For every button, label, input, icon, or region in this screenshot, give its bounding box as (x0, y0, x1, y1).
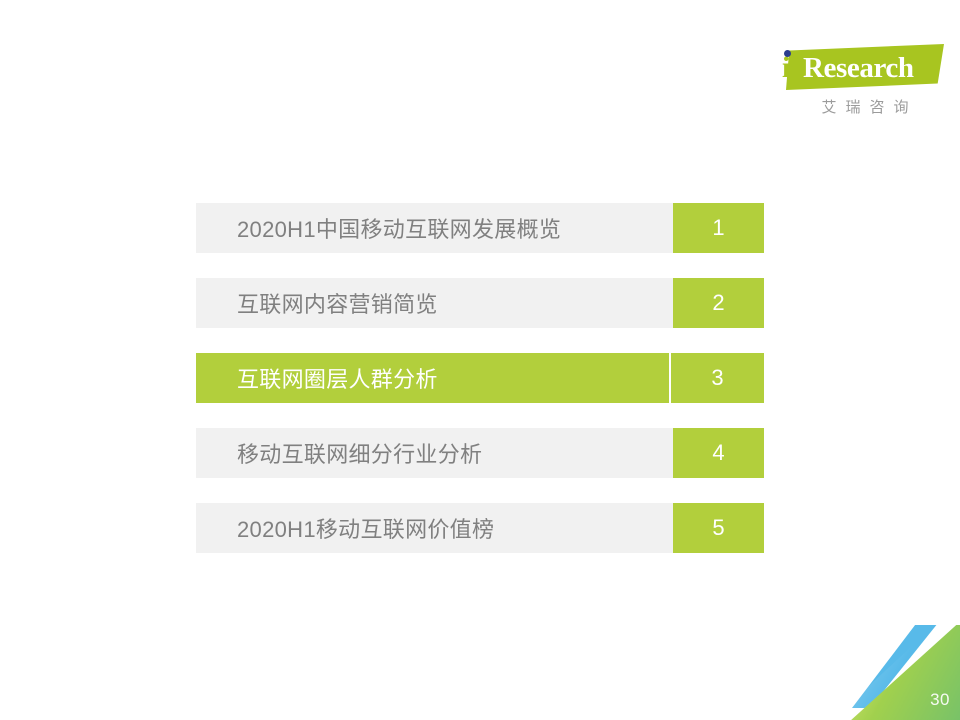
page-number: 30 (930, 690, 950, 710)
toc-item-label: 2020H1中国移动互联网发展概览 (196, 203, 673, 253)
toc-item-number: 2 (673, 278, 764, 328)
toc-item-label: 2020H1移动互联网价值榜 (196, 503, 673, 553)
toc-row-active[interactable]: 互联网圈层人群分析 3 (196, 353, 764, 403)
toc-item-number: 3 (669, 353, 764, 403)
toc-item-label: 互联网内容营销简览 (196, 278, 673, 328)
corner-highlight-overlay (850, 625, 940, 720)
toc-row[interactable]: 2020H1移动互联网价值榜 5 (196, 503, 764, 553)
table-of-contents: 2020H1中国移动互联网发展概览 1 互联网内容营销简览 2 互联网圈层人群分… (196, 203, 764, 553)
logo-dot-icon (784, 50, 791, 57)
toc-item-number: 4 (673, 428, 764, 478)
slide-canvas: i Research 艾瑞咨询 2020H1中国移动互联网发展概览 1 互联网内… (0, 0, 960, 720)
logo-mark: i Research (772, 42, 944, 92)
toc-row[interactable]: 2020H1中国移动互联网发展概览 1 (196, 203, 764, 253)
toc-row[interactable]: 移动互联网细分行业分析 4 (196, 428, 764, 478)
toc-item-label: 移动互联网细分行业分析 (196, 428, 673, 478)
iresearch-logo: i Research 艾瑞咨询 (772, 42, 944, 124)
toc-row[interactable]: 互联网内容营销简览 2 (196, 278, 764, 328)
toc-item-number: 5 (673, 503, 764, 553)
corner-decoration: 30 (850, 625, 960, 720)
logo-wordmark: Research (803, 48, 943, 88)
logo-chinese-name: 艾瑞咨询 (786, 96, 944, 117)
toc-item-label: 互联网圈层人群分析 (196, 353, 669, 403)
toc-item-number: 1 (673, 203, 764, 253)
